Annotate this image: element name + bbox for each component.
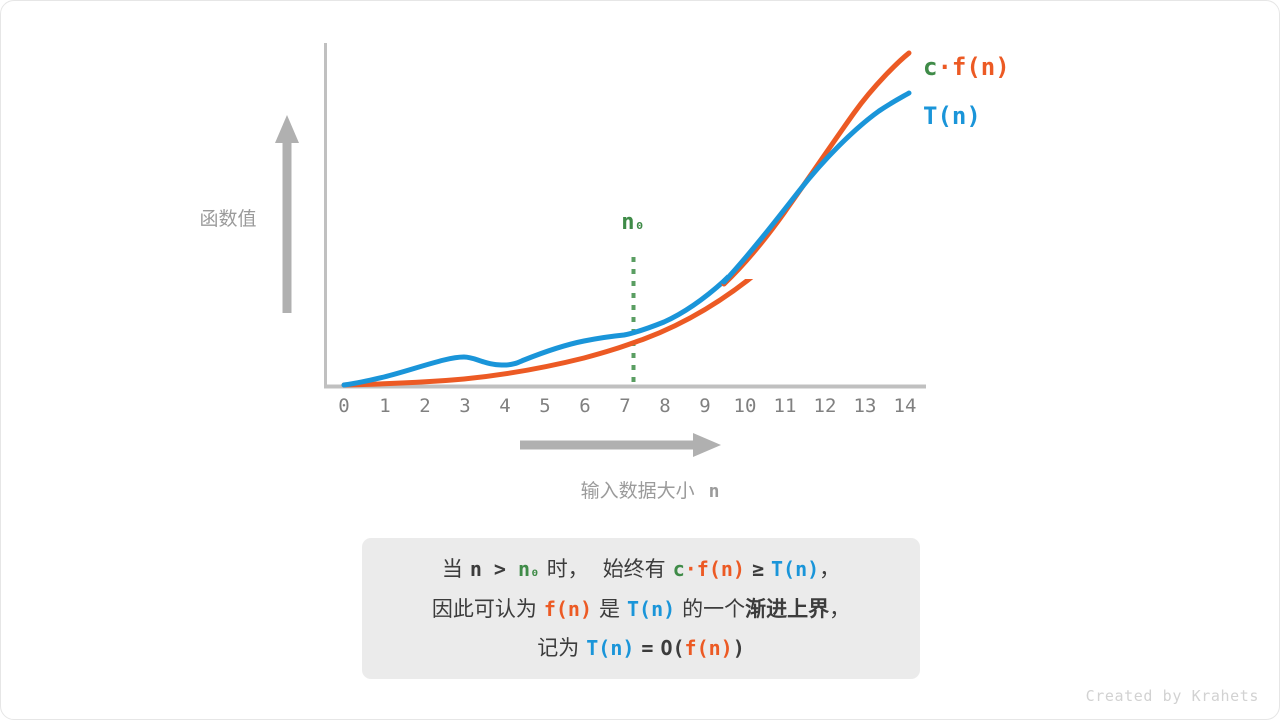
y-direction-arrow	[275, 115, 299, 313]
explanation-box: 当n > n₀时，始终有c·f(n)≥T(n)， 因此可认为f(n)是T(n)的…	[362, 538, 920, 679]
y-axis-label: 函数值	[183, 204, 273, 231]
xtick-6: 6	[565, 395, 605, 417]
cap1-t-n: T(n)	[771, 557, 819, 581]
figure-root: 函数值 输入数据大小n 0 1 2 3 4 5 6 7 8 9 10 11 12…	[0, 0, 1280, 720]
xtick-9: 9	[685, 395, 725, 417]
cap1-code1: n >	[470, 557, 518, 581]
legend-item-t-n: T(n)	[923, 102, 981, 130]
xtick-5: 5	[525, 395, 565, 417]
xtick-8: 8	[645, 395, 685, 417]
xtick-7: 7	[605, 395, 645, 417]
cap1-n0-sub: ₀	[530, 561, 540, 580]
explanation-line-3: 记为T(n)=O(f(n))	[537, 629, 745, 668]
cap2-t2: 是	[599, 598, 620, 621]
xtick-3: 3	[445, 395, 485, 417]
xtick-4: 4	[485, 395, 525, 417]
cap1-c: c	[673, 557, 685, 581]
cap1-t3: 始终有	[603, 558, 666, 581]
legend-item-c-f-n: c·f(n)	[923, 53, 1010, 81]
cap2-f-n: f(n)	[544, 597, 592, 621]
xtick-12: 12	[805, 395, 845, 417]
n0-main: n	[621, 210, 634, 235]
xtick-14: 14	[885, 395, 925, 417]
cap2-bold-term: 渐进上界	[745, 598, 829, 621]
explanation-line-2: 因此可认为f(n)是T(n)的一个渐进上界，	[432, 590, 850, 629]
credit-text: Created by Krahets	[1086, 687, 1259, 705]
cap3-t1: 记为	[537, 637, 579, 660]
xtick-10: 10	[725, 395, 765, 417]
x-direction-arrow	[520, 433, 721, 457]
cap3-f-n: f(n)	[685, 636, 733, 660]
xtick-1: 1	[365, 395, 405, 417]
cap1-f-n: ·f(n)	[685, 557, 745, 581]
cap1-t4: ，	[819, 558, 840, 581]
xtick-2: 2	[405, 395, 445, 417]
xtick-0: 0	[324, 395, 364, 417]
x-axis-label: 输入数据大小n	[525, 476, 775, 503]
legend-c-symbol: c	[923, 53, 937, 81]
cap1-n0-main: n	[518, 557, 530, 581]
cap3-eq: =	[641, 636, 653, 660]
x-axis-label-text: 输入数据大小	[581, 481, 695, 502]
cap2-t-n: T(n)	[627, 597, 675, 621]
cap1-geq: ≥	[752, 557, 764, 581]
cap3-t-n: T(n)	[586, 636, 634, 660]
n0-subscript: ₀	[635, 214, 645, 234]
cap1-t1: 当	[442, 558, 463, 581]
xtick-11: 11	[765, 395, 805, 417]
cap2-t1: 因此可认为	[432, 598, 537, 621]
legend-f-n-symbol: ·f(n)	[937, 53, 1009, 81]
xtick-13: 13	[845, 395, 885, 417]
cap2-t4: ，	[829, 598, 850, 621]
cap3-big-o-open: O(	[660, 636, 684, 660]
cap2-t3: 的一个	[682, 598, 745, 621]
cap3-big-o-close: )	[733, 636, 745, 660]
explanation-line-1: 当n > n₀时，始终有c·f(n)≥T(n)，	[442, 550, 840, 590]
x-axis-label-var: n	[709, 481, 720, 502]
cap1-t2: 时，	[547, 558, 589, 581]
n0-annotation-label: n₀	[601, 210, 665, 235]
